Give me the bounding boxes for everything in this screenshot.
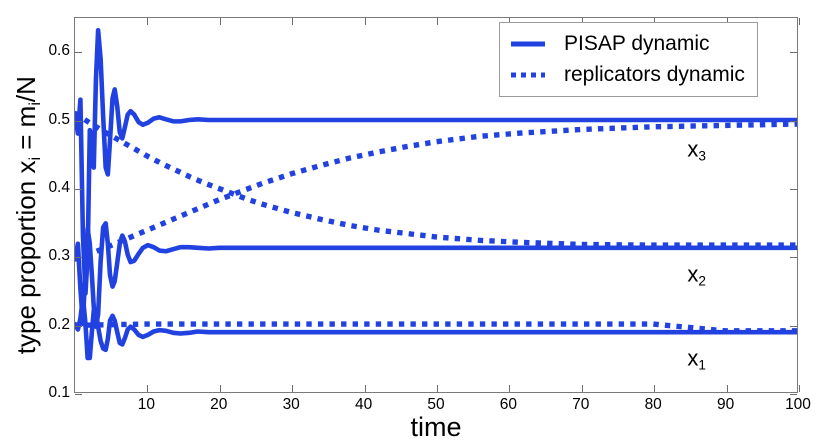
series-line [75, 324, 797, 331]
legend-item[interactable]: PISAP dynamic [509, 28, 745, 59]
y-axis-title-suffix: /N [11, 76, 41, 102]
x-tick-mark [292, 18, 293, 25]
y-tick-mark [75, 257, 82, 258]
series-line [75, 113, 797, 245]
solid-line-key [509, 35, 553, 53]
y-tick-mark [790, 52, 797, 53]
y-axis-title-middle: = m [11, 106, 41, 157]
y-tick-mark [75, 189, 82, 190]
y-tick-label: 0.3 [48, 247, 70, 265]
x-tick-label: 40 [355, 396, 372, 414]
x-axis-title: time [410, 414, 461, 441]
curve-label-base: x [687, 137, 698, 162]
x-tick-mark [147, 18, 148, 25]
legend-label: PISAP dynamic [564, 32, 710, 56]
y-tick-mark [790, 189, 797, 190]
y-axis-title-sub-i2: i [26, 102, 44, 106]
legend-label: replicators dynamic [564, 63, 745, 87]
curve-label-base: x [687, 345, 698, 370]
x-tick-mark [292, 385, 293, 392]
y-tick-label: 0.1 [48, 384, 70, 402]
y-axis-title: type proportion xi = mi/N [13, 5, 43, 425]
y-tick-mark [75, 394, 82, 395]
x-tick-label: 60 [500, 396, 517, 414]
x-tick-mark [437, 18, 438, 25]
y-tick-mark [790, 121, 797, 122]
curve-label-x3: x3 [687, 137, 706, 164]
x-tick-label: 70 [572, 396, 589, 414]
y-tick-label: 0.5 [48, 111, 70, 129]
curve-label-subscript: 2 [698, 273, 706, 288]
dotted-line-key [509, 66, 553, 84]
x-tick-mark [799, 18, 800, 25]
x-tick-mark [799, 385, 800, 392]
x-tick-label: 50 [427, 396, 444, 414]
curve-label-base: x [687, 261, 698, 286]
curve-label-x1: x1 [687, 345, 706, 372]
y-tick-mark [75, 121, 82, 122]
x-tick-mark [654, 385, 655, 392]
chart-root: type proportion xi = mi/N time 102030405… [0, 0, 830, 444]
y-tick-label: 0.4 [48, 179, 70, 197]
y-axis-title-sub-i1: i [26, 157, 44, 161]
y-axis-title-prefix: type proportion x [11, 161, 41, 355]
curve-label-subscript: 3 [698, 149, 706, 164]
x-tick-mark [365, 385, 366, 392]
x-tick-label: 30 [283, 396, 300, 414]
x-tick-mark [220, 385, 221, 392]
x-tick-label: 10 [138, 396, 155, 414]
y-tick-mark [790, 326, 797, 327]
x-tick-mark [220, 18, 221, 25]
legend-item[interactable]: replicators dynamic [509, 59, 745, 90]
curve-label-x2: x2 [687, 261, 706, 288]
x-tick-mark [509, 385, 510, 392]
x-tick-mark [365, 18, 366, 25]
curve-label-subscript: 1 [698, 357, 706, 372]
x-tick-label: 80 [645, 396, 662, 414]
y-tick-mark [790, 394, 797, 395]
legend: PISAP dynamicreplicators dynamic [499, 22, 758, 97]
x-tick-mark [727, 385, 728, 392]
x-tick-label: 90 [717, 396, 734, 414]
y-tick-mark [75, 52, 82, 53]
x-tick-mark [147, 385, 148, 392]
y-tick-label: 0.2 [48, 316, 70, 334]
y-tick-mark [790, 257, 797, 258]
y-tick-label: 0.6 [48, 42, 70, 60]
x-tick-mark [437, 385, 438, 392]
x-tick-label: 100 [785, 396, 811, 414]
x-tick-mark [582, 385, 583, 392]
y-tick-mark [75, 326, 82, 327]
x-tick-label: 20 [210, 396, 227, 414]
